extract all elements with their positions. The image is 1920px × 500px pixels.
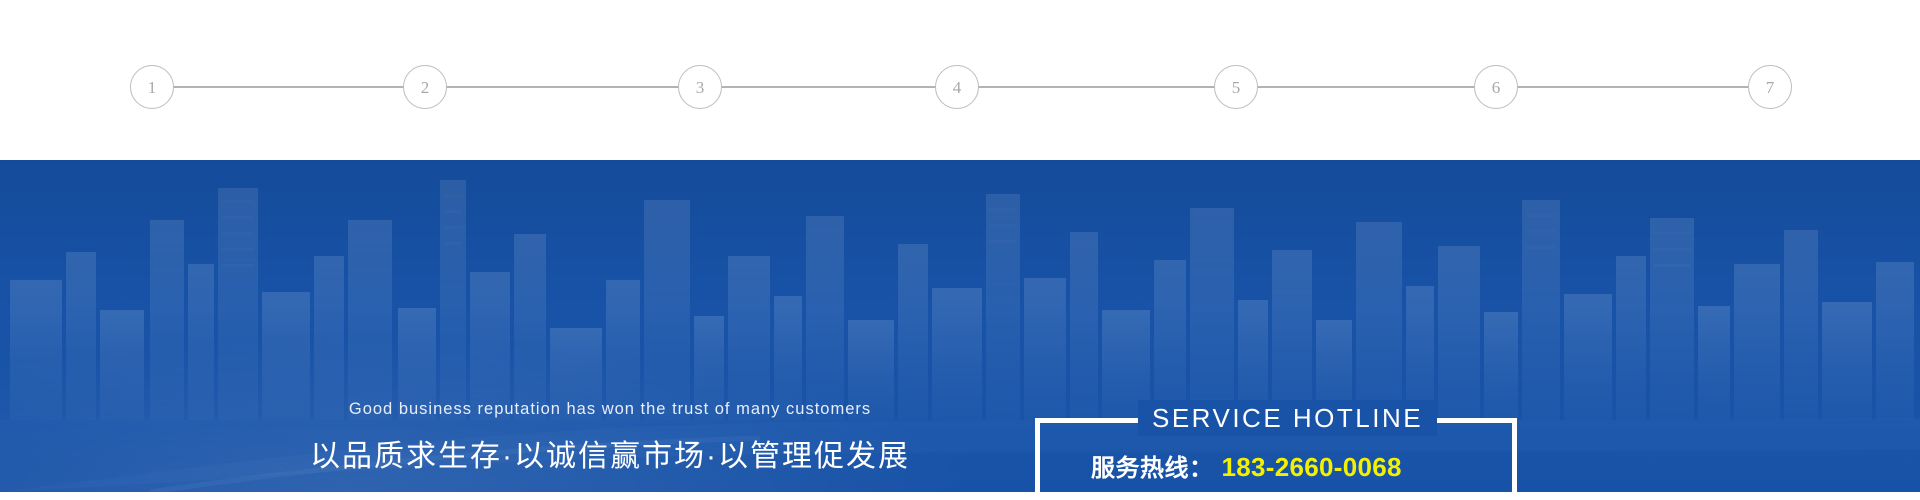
hotline-row-primary: 服务热线： 183-2660-0068 — [1035, 448, 1517, 483]
hotline-label: 服务热线： — [1091, 448, 1214, 483]
page-root: 1 2 3 4 5 6 7 — [0, 0, 1920, 500]
step-node-label: 4 — [953, 79, 962, 96]
step-node-7[interactable]: 7 — [1748, 65, 1792, 109]
hotline-title: SERVICE HOTLINE — [1138, 400, 1437, 436]
step-indicator: 1 2 3 4 5 6 7 — [0, 0, 1920, 160]
step-node-label: 6 — [1492, 79, 1501, 96]
step-node-4[interactable]: 4 — [935, 65, 979, 109]
step-node-label: 5 — [1232, 79, 1241, 96]
step-node-2[interactable]: 2 — [403, 65, 447, 109]
hotline-row-secondary: 服务热线： 0551-63749777 — [1035, 489, 1517, 492]
promo-banner: Good business reputation has won the tru… — [0, 160, 1920, 492]
step-node-label: 7 — [1766, 79, 1775, 96]
step-node-6[interactable]: 6 — [1474, 65, 1518, 109]
hotline-number-primary[interactable]: 183-2660-0068 — [1222, 452, 1402, 483]
hotline-numbers: 服务热线： 183-2660-0068 服务热线： 0551-63749777 — [1035, 448, 1517, 492]
step-node-5[interactable]: 5 — [1214, 65, 1258, 109]
step-node-label: 3 — [696, 79, 705, 96]
city-skyline-background — [0, 160, 1920, 492]
step-node-label: 2 — [421, 79, 430, 96]
slogan-english: Good business reputation has won the tru… — [300, 400, 920, 420]
slogan-chinese-main: 以品质求生存·以诚信赢市场·以管理促发展 — [300, 438, 920, 476]
step-node-label: 1 — [148, 79, 157, 96]
step-node-1[interactable]: 1 — [130, 65, 174, 109]
slogan-block: Good business reputation has won the tru… — [300, 400, 920, 492]
step-node-3[interactable]: 3 — [678, 65, 722, 109]
